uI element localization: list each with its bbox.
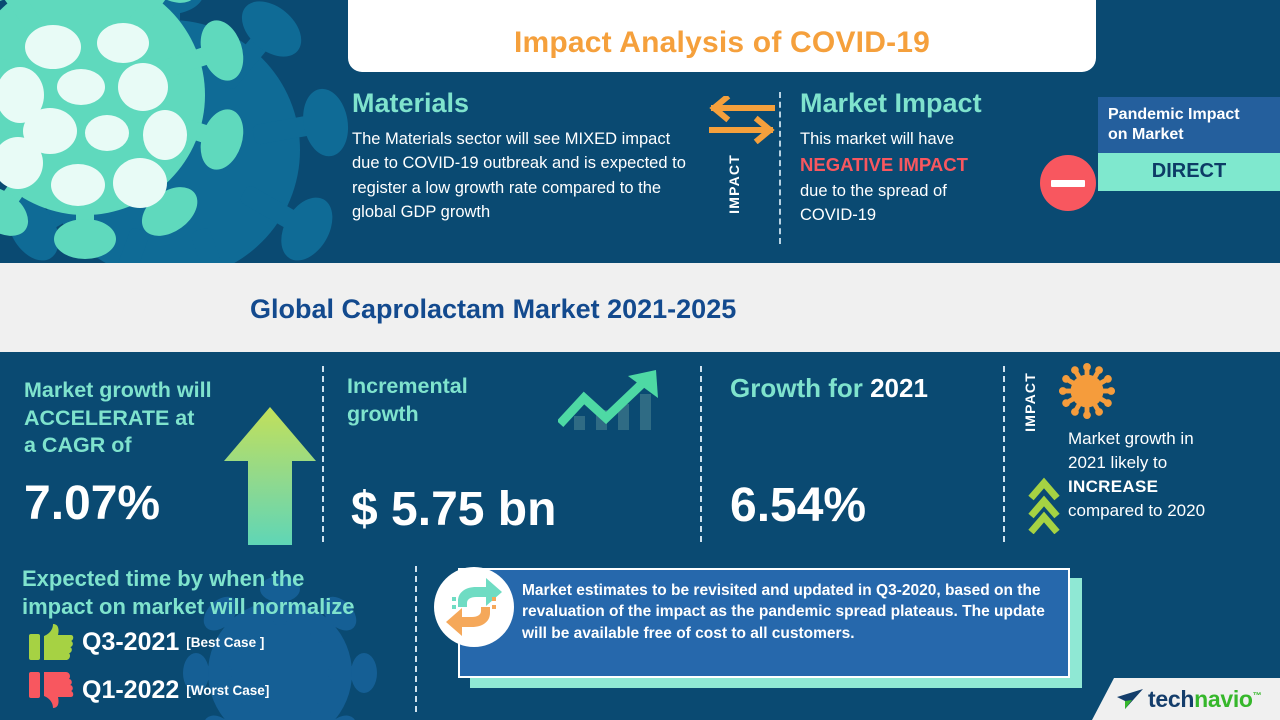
cagr-value: 7.07% <box>24 480 160 528</box>
vertical-divider-top <box>779 92 781 244</box>
thumbs-down-icon <box>28 671 74 709</box>
growth-chart-icon <box>558 368 662 434</box>
incremental-value: $ 5.75 bn <box>351 486 556 534</box>
cagr-label-line2: ACCELERATE at <box>24 405 254 433</box>
impact-2021-line1: Market growth in <box>1068 427 1278 451</box>
note-box: Market estimates to be revisited and upd… <box>458 568 1070 678</box>
market-impact-heading: Market Impact <box>800 88 1040 119</box>
best-case-quarter: Q3-2021 <box>82 628 179 657</box>
double-chevron-up-icon <box>1028 476 1060 534</box>
metric-incremental-growth: Incremental growth $ 5.75 bn <box>347 373 577 428</box>
impact-2021-line2: 2021 likely to <box>1068 451 1278 475</box>
refresh-cycle-icon <box>434 567 514 647</box>
incremental-label-line2: growth <box>347 401 577 429</box>
pandemic-badge-line1: Pandemic Impact <box>1108 106 1240 123</box>
market-impact-emphasis: NEGATIVE IMPACT <box>800 151 1040 178</box>
metric-cagr: Market growth will ACCELERATE at a CAGR … <box>24 377 254 460</box>
page-title: Impact Analysis of COVID-19 <box>514 26 930 60</box>
market-impact-line1: This market will have <box>800 127 1040 151</box>
paper-plane-icon <box>1116 688 1144 710</box>
metric-growth-2021: Growth for 2021 6.54% <box>730 372 1010 405</box>
logo-part2: navio <box>1194 686 1253 712</box>
logo-part1: tech <box>1148 686 1194 712</box>
virus-icon <box>1058 362 1116 420</box>
normalize-heading-line2: impact on market will normalize <box>22 593 422 621</box>
metrics-divider-2 <box>700 366 702 542</box>
infographic-page: Impact Analysis of COVID-19 Materials Th… <box>0 0 1280 720</box>
growth-2021-year: 2021 <box>870 373 928 403</box>
cagr-label-line3: a CAGR of <box>24 432 254 460</box>
materials-body: The Materials sector will see MIXED impa… <box>352 127 702 225</box>
best-case-row: Q3-2021 [Best Case ] <box>28 623 264 661</box>
market-impact-section: Market Impact This market will have NEGA… <box>800 88 1040 228</box>
impact-2021-emphasis: INCREASE <box>1068 477 1158 496</box>
minus-circle-icon <box>1040 155 1096 211</box>
title-card: Impact Analysis of COVID-19 <box>348 0 1096 72</box>
normalize-heading: Expected time by when the impact on mark… <box>22 565 422 620</box>
materials-heading: Materials <box>352 88 702 119</box>
worst-case-row: Q1-2022 [Worst Case] <box>28 671 269 709</box>
worst-case-tag: [Worst Case] <box>186 683 269 698</box>
pandemic-badge-header: Pandemic Impact on Market <box>1098 97 1280 153</box>
note-text: Market estimates to be revisited and upd… <box>522 580 1054 644</box>
growth-2021-value: 6.54% <box>730 482 866 530</box>
market-title: Global Caprolactam Market 2021-2025 <box>250 294 736 325</box>
incremental-label-line1: Incremental <box>347 373 577 401</box>
pandemic-badge-line2: on Market <box>1108 125 1272 145</box>
logo-tm: ™ <box>1253 690 1262 700</box>
materials-section: Materials The Materials sector will see … <box>352 88 702 225</box>
logo-text: technavio™ <box>1148 686 1261 713</box>
refresh-icon-backing <box>434 567 514 647</box>
worst-case-quarter: Q1-2022 <box>82 676 179 705</box>
metrics-divider-1 <box>322 366 324 542</box>
impact-2021-text: Market growth in 2021 likely to INCREASE… <box>1068 427 1278 524</box>
market-impact-line3: COVID-19 <box>800 203 1040 227</box>
up-arrow-icon <box>222 405 318 545</box>
impact-2021-line3: compared to 2020 <box>1068 499 1278 523</box>
thumbs-up-icon <box>28 623 74 661</box>
background-virus-mint-icon <box>0 0 285 295</box>
impact-2021-label: IMPACT <box>1022 372 1038 432</box>
growth-2021-label: Growth for <box>730 373 870 403</box>
pandemic-badge-value: DIRECT <box>1098 153 1280 191</box>
normalize-heading-line1: Expected time by when the <box>22 565 422 593</box>
market-impact-line2: due to the spread of <box>800 179 1040 203</box>
bidirectional-arrows-icon <box>706 96 778 144</box>
cagr-label-line1: Market growth will <box>24 377 254 405</box>
pandemic-impact-badge: Pandemic Impact on Market DIRECT <box>1098 97 1280 191</box>
impact-label: IMPACT <box>726 154 742 214</box>
best-case-tag: [Best Case ] <box>186 635 264 650</box>
impact-divider: IMPACT <box>706 96 778 256</box>
